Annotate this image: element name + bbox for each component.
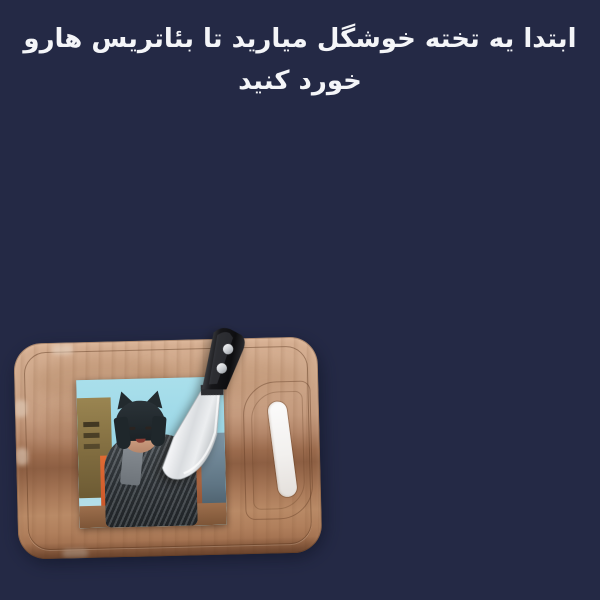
board-edge-highlight <box>15 399 27 417</box>
cutting-board-composition <box>11 334 329 572</box>
photo-subject-eye <box>129 427 135 430</box>
board-edge-highlight <box>51 344 73 355</box>
caption-text: ابتدا یه تخته خوشگل میارید تا بئاتریس ها… <box>0 18 600 102</box>
board-handle-slot <box>267 400 298 498</box>
board-edge-highlight <box>62 549 88 559</box>
board-edge-highlight <box>16 447 28 465</box>
caption-line-1: ابتدا یه تخته خوشگل میارید تا بئاتریس ها… <box>0 18 600 60</box>
meme-slide: ابتدا یه تخته خوشگل میارید تا بئاتریس ها… <box>0 0 600 600</box>
photo-building-windows <box>83 422 99 427</box>
caption-line-2: خورد کنید <box>0 60 600 102</box>
